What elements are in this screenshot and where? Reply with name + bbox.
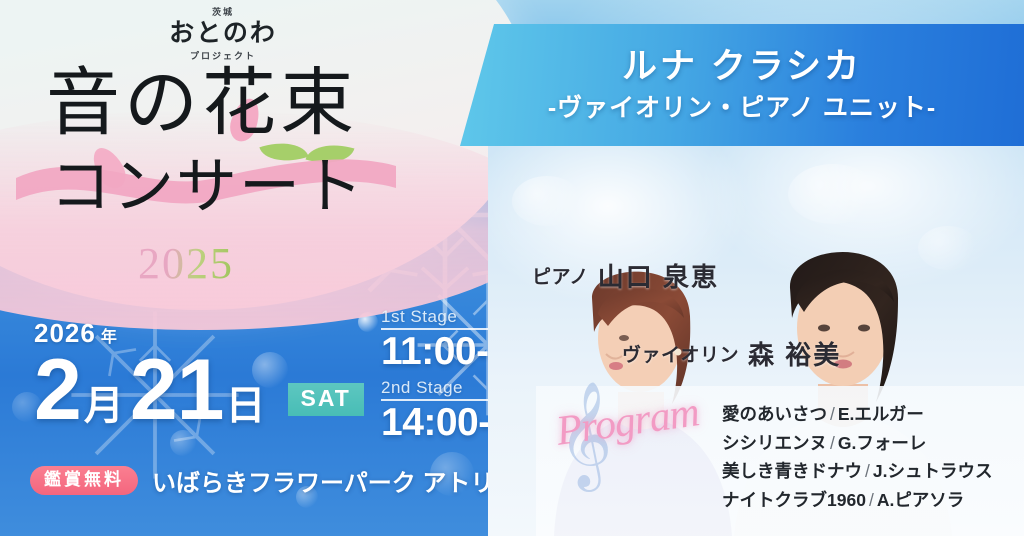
program-item: 美しき青きドナウ/J.シュトラウス — [722, 457, 992, 486]
performer-name-strip-piano: ピアノ 山口 泉恵 — [518, 256, 737, 294]
program-piece: ナイトクラブ1960 — [722, 490, 866, 510]
unit-subtitle: -ヴァイオリン・ピアノ ユニット- — [548, 95, 936, 123]
program-item: ナイトクラブ1960/A.ピアソラ — [722, 486, 992, 515]
program-separator: / — [865, 461, 870, 481]
concert-poster: 茨城 おとのわ プロジェクト 音の花束 コンサート 2025 2026年 2 月… — [0, 0, 1024, 536]
poster-title: 音の花束 コンサート — [46, 66, 386, 217]
brand-logo: 茨城 おとのわ プロジェクト — [148, 8, 298, 62]
title-line-2: コンサート — [50, 156, 386, 217]
event-day-number: 21 — [130, 351, 224, 430]
event-month-number: 2 — [34, 351, 81, 430]
event-year-kanji: 年 — [101, 329, 118, 346]
program-composer: E.エルガー — [838, 404, 924, 424]
free-admission-badge: 鑑賞無料 — [30, 466, 138, 495]
program-piece: 美しき青きドナウ — [722, 461, 862, 481]
program-composer: J.シュトラウス — [873, 461, 993, 481]
program-composer: A.ピアソラ — [877, 490, 965, 510]
program-separator: / — [869, 490, 874, 510]
event-month-kanji: 月 — [84, 386, 124, 426]
performer-name-piano: 山口 泉恵 — [598, 257, 719, 294]
program-separator: / — [830, 404, 835, 424]
performer-role-violin: ヴァイオリン — [622, 340, 739, 367]
program-list: 愛のあいさつ/E.エルガー シシリエンヌ/G.フォーレ 美しき青きドナウ/J.シ… — [722, 400, 992, 514]
program-piece: 愛のあいさつ — [722, 404, 827, 424]
event-day-row: 2 月 21 日 SAT — [34, 351, 364, 430]
brand-prefecture: 茨城 — [148, 8, 298, 18]
program-separator: / — [830, 433, 835, 453]
weekday-badge: SAT — [288, 383, 364, 416]
event-day-kanji: 日 — [226, 386, 266, 426]
brand-name: おとのわ — [148, 19, 298, 48]
program-item: シシリエンヌ/G.フォーレ — [722, 429, 992, 458]
program-composer: G.フォーレ — [838, 433, 926, 453]
performer-name-strip-violin: ヴァイオリン 森 裕美 — [608, 334, 859, 372]
performer-role-piano: ピアノ — [532, 262, 589, 289]
title-line-1: 音の花束 — [46, 66, 386, 140]
title-year-art: 2025 — [138, 238, 234, 289]
program-panel: 𝄞 Program 愛のあいさつ/E.エルガー シシリエンヌ/G.フォーレ 美し… — [536, 386, 1024, 536]
unit-banner: ルナ クラシカ -ヴァイオリン・ピアノ ユニット- — [460, 24, 1024, 146]
program-piece: シシリエンヌ — [722, 433, 827, 453]
unit-name: ルナ クラシカ — [622, 48, 862, 87]
program-item: 愛のあいさつ/E.エルガー — [722, 400, 992, 429]
performer-name-violin: 森 裕美 — [748, 335, 841, 372]
brand-suffix: プロジェクト — [148, 49, 298, 62]
event-date-block: 2026年 2 月 21 日 SAT — [34, 318, 364, 430]
